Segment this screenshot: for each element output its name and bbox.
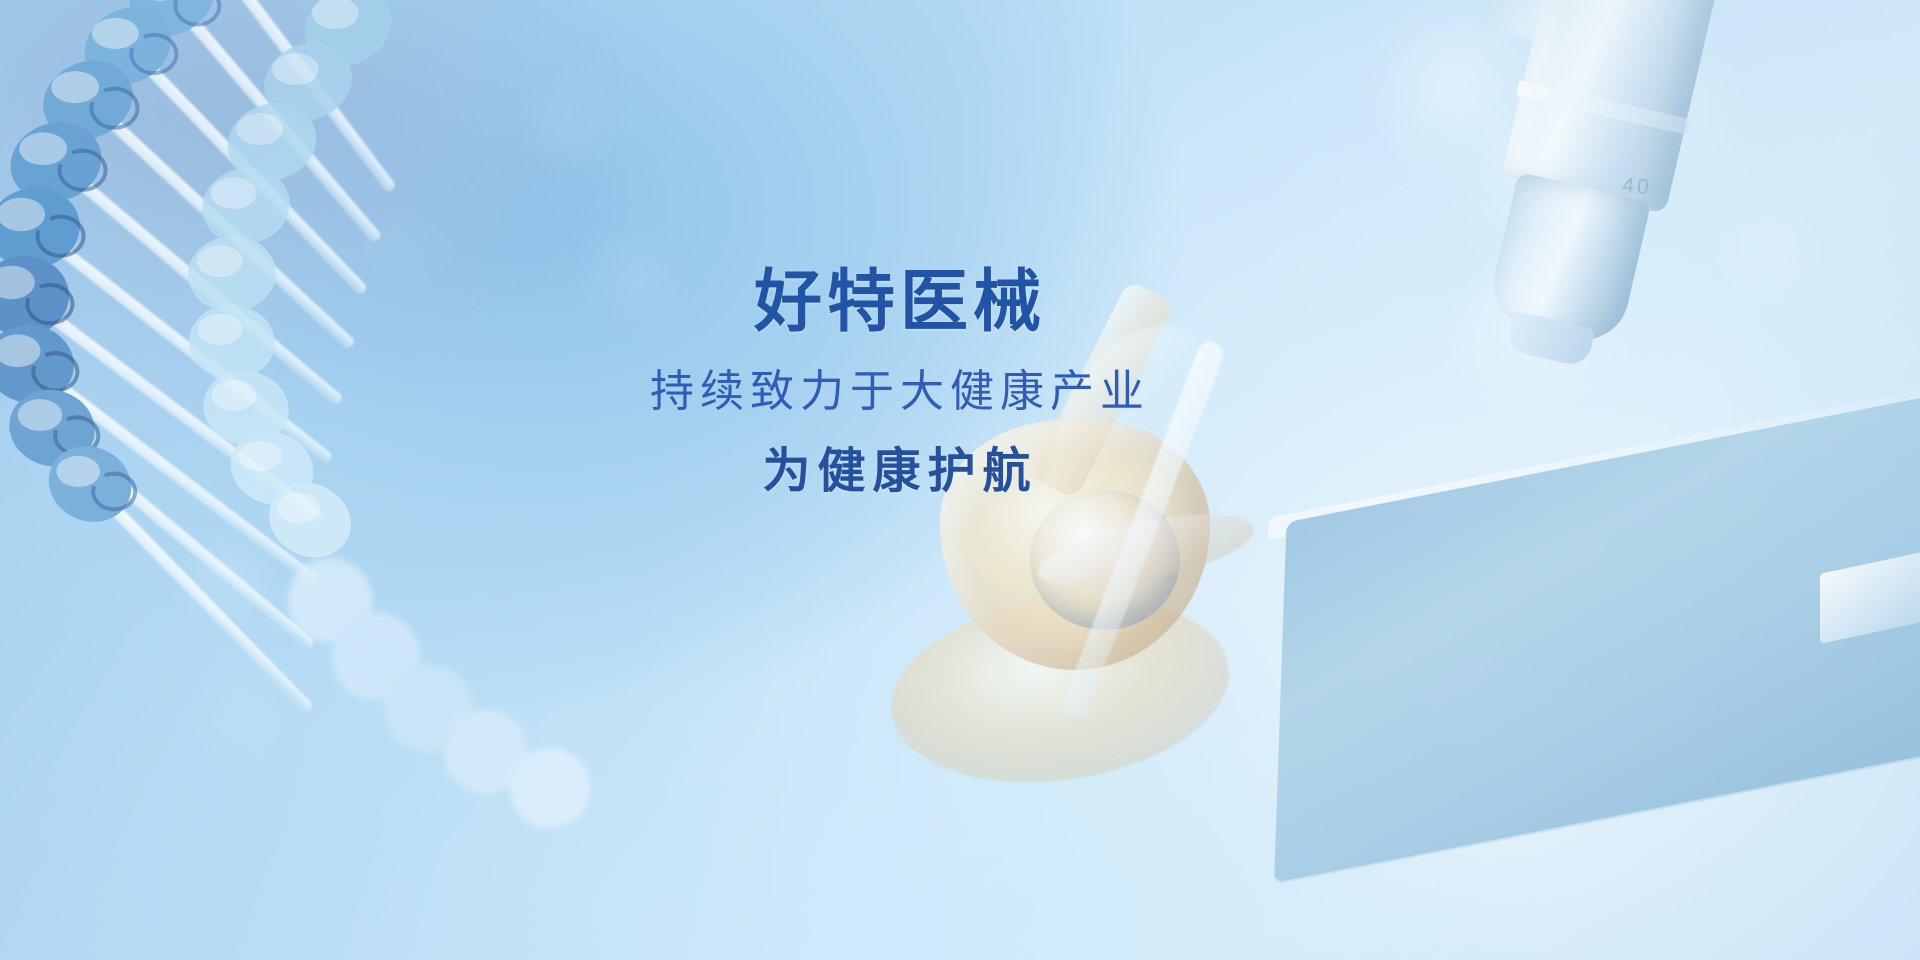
hero-text-block: 好特医械 持续致力于大健康产业 为健康护航 <box>440 262 1360 501</box>
dna-node-highlight <box>92 18 139 49</box>
dna-lower-nodes <box>288 558 590 828</box>
dna-node-highlight <box>211 177 257 209</box>
microscope-magnification-label: 40 <box>1621 174 1652 200</box>
page-title: 好特医械 <box>440 262 1360 342</box>
dna-node-highlight <box>238 441 282 471</box>
dna-node-highlight <box>236 113 283 145</box>
page-tagline: 为健康护航 <box>440 443 1360 501</box>
dna-node-highlight <box>276 493 320 523</box>
dna-node-highlight <box>212 380 257 411</box>
dna-node-highlight <box>198 314 243 345</box>
dna-node-highlight <box>18 399 63 431</box>
dna-node-highlight <box>272 53 319 85</box>
dna-strand-back <box>185 0 444 571</box>
dna-node-highlight <box>197 245 243 277</box>
dna-node-highlight <box>51 71 99 103</box>
page-subtitle: 持续致力于大健康产业 <box>440 364 1360 419</box>
dna-node-far <box>510 748 590 828</box>
dna-node-highlight <box>56 456 100 487</box>
dna-node-highlight <box>19 132 67 165</box>
hero-banner: 40 好特医械 持续致力于大健康产业 为健康护航 <box>0 0 1920 960</box>
